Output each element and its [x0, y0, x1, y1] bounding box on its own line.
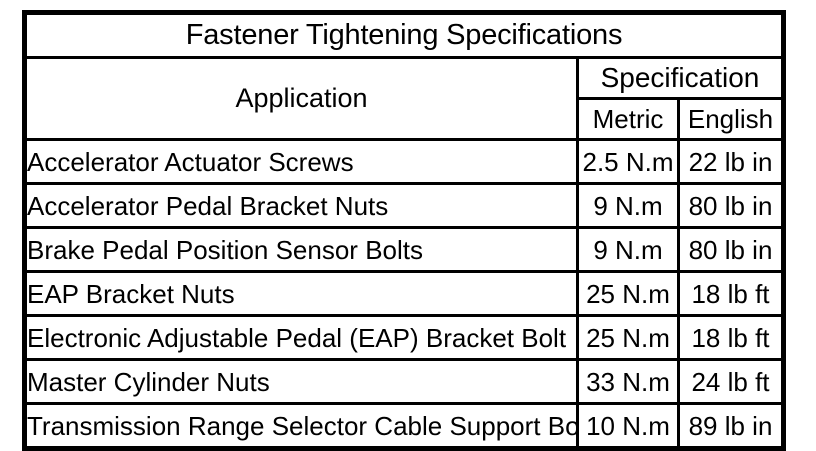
table-row: Accelerator Pedal Bracket Nuts 9 N.m 80 … [25, 184, 784, 228]
cell-english: 18 lb ft [679, 272, 784, 316]
table-title-row: Fastener Tightening Specifications [25, 13, 784, 58]
column-header-metric: Metric [578, 99, 679, 140]
cell-application: Accelerator Actuator Screws [25, 140, 578, 184]
table-row: EAP Bracket Nuts 25 N.m 18 lb ft [25, 272, 784, 316]
cell-metric: 10 N.m [578, 404, 679, 449]
cell-metric: 9 N.m [578, 228, 679, 272]
cell-english: 24 lb ft [679, 360, 784, 404]
column-header-english: English [679, 99, 784, 140]
fastener-specifications-table-container: Fastener Tightening Specifications Appli… [22, 10, 786, 428]
cell-metric: 33 N.m [578, 360, 679, 404]
cell-metric: 25 N.m [578, 316, 679, 360]
cell-english: 18 lb ft [679, 316, 784, 360]
cell-metric: 25 N.m [578, 272, 679, 316]
cell-metric: 2.5 N.m [578, 140, 679, 184]
cell-application: Electronic Adjustable Pedal (EAP) Bracke… [25, 316, 578, 360]
table-row: Accelerator Actuator Screws 2.5 N.m 22 l… [25, 140, 784, 184]
cell-english: 80 lb in [679, 228, 784, 272]
cell-application: EAP Bracket Nuts [25, 272, 578, 316]
column-header-specification: Specification [578, 58, 784, 99]
cell-application: Transmission Range Selector Cable Suppor… [25, 404, 578, 449]
fastener-specifications-table: Fastener Tightening Specifications Appli… [22, 10, 786, 451]
table-body: Fastener Tightening Specifications Appli… [25, 13, 784, 449]
table-header-row-primary: Application Specification [25, 58, 784, 99]
table-row: Master Cylinder Nuts 33 N.m 24 lb ft [25, 360, 784, 404]
cell-metric: 9 N.m [578, 184, 679, 228]
column-header-application: Application [25, 58, 578, 140]
cell-english: 80 lb in [679, 184, 784, 228]
table-title: Fastener Tightening Specifications [25, 13, 784, 58]
table-row: Transmission Range Selector Cable Suppor… [25, 404, 784, 449]
cell-english: 22 lb in [679, 140, 784, 184]
table-row: Brake Pedal Position Sensor Bolts 9 N.m … [25, 228, 784, 272]
cell-application: Brake Pedal Position Sensor Bolts [25, 228, 578, 272]
cell-english: 89 lb in [679, 404, 784, 449]
cell-application: Master Cylinder Nuts [25, 360, 578, 404]
table-row: Electronic Adjustable Pedal (EAP) Bracke… [25, 316, 784, 360]
cell-application: Accelerator Pedal Bracket Nuts [25, 184, 578, 228]
